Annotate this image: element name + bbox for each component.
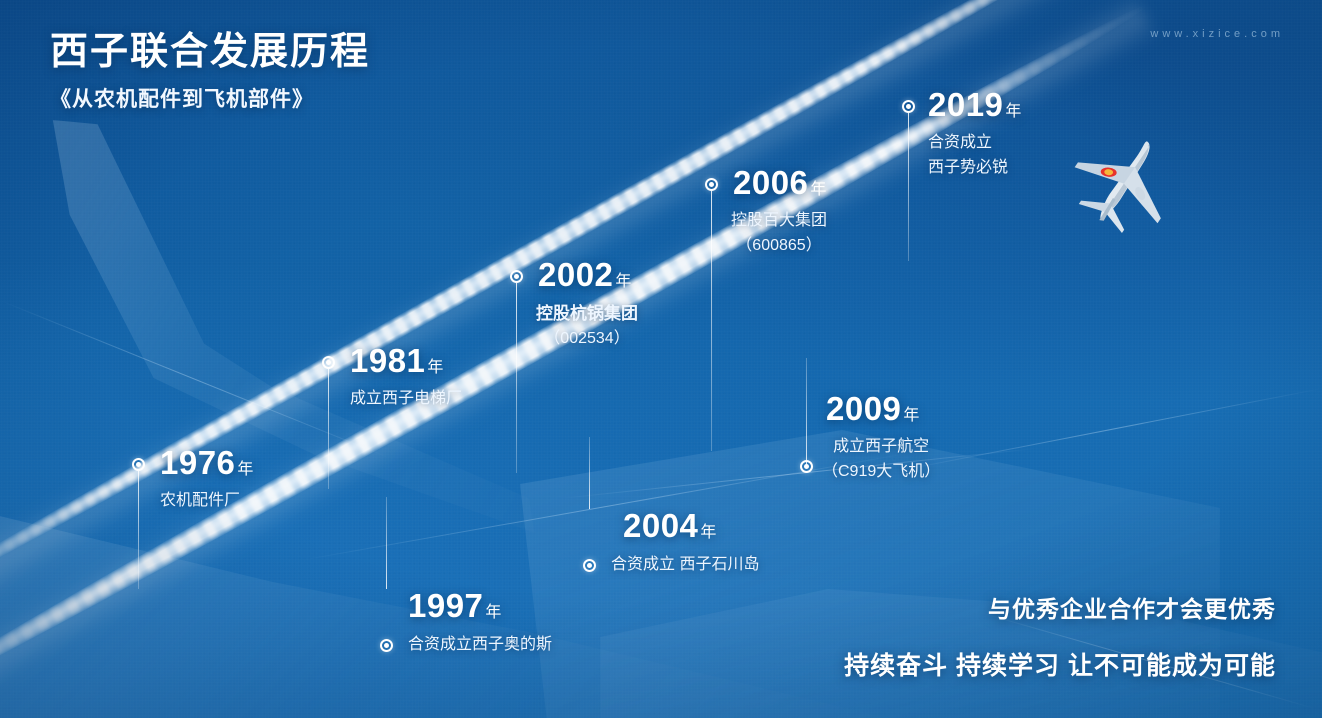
ring-dot-icon	[380, 639, 393, 652]
node-year-value: 1976	[160, 444, 235, 481]
node-stem	[328, 369, 329, 489]
ring-dot-icon	[800, 460, 813, 473]
node-code: （002534）	[536, 327, 638, 352]
header: 西子联合发展历程 《从农机配件到飞机部件》	[50, 32, 370, 113]
timeline-node-1997[interactable]: 1997年 合资成立西子奥的斯	[380, 589, 552, 658]
timeline-infographic: 西子联合发展历程 《从农机配件到飞机部件》 www.xizice.com 197…	[0, 0, 1322, 718]
node-stem	[138, 471, 139, 589]
node-year-suffix: 年	[615, 273, 632, 290]
node-stem	[386, 497, 387, 589]
node-desc: 成立西子航空	[822, 435, 940, 460]
node-year: 2002年	[538, 258, 638, 291]
node-year-suffix: 年	[1005, 103, 1022, 120]
node-year-value: 1997	[408, 587, 483, 624]
ring-dot-icon	[510, 270, 523, 283]
node-desc: 农机配件厂	[160, 489, 254, 514]
node-year: 2006年	[733, 166, 827, 199]
timeline-node-1981[interactable]: 1981年 成立西子电梯厂	[322, 344, 462, 412]
node-year: 2009年	[826, 392, 940, 425]
timeline-node-2009[interactable]: 2009年 成立西子航空 （C919大飞机）	[800, 392, 940, 485]
node-year-suffix: 年	[700, 524, 717, 541]
timeline-node-2002[interactable]: 2002年 控股杭锅集团 （002534）	[510, 258, 638, 352]
node-year-value: 2009	[826, 390, 901, 427]
node-year: 1976年	[160, 446, 254, 479]
slogan-block: 与优秀企业合作才会更优秀 持续奋斗 持续学习 让不可能成为可能	[844, 590, 1276, 682]
slogan-line-2: 持续奋斗 持续学习 让不可能成为可能	[844, 646, 1276, 682]
node-code: （600865）	[731, 234, 827, 259]
timeline-node-2019[interactable]: 2019年 合资成立 西子势必锐	[902, 88, 1022, 181]
node-year-value: 2002	[538, 256, 613, 293]
node-desc: 合资成立 西子石川岛	[611, 553, 759, 578]
node-stem	[711, 191, 712, 451]
timeline-node-2006[interactable]: 2006年 控股百大集团 （600865）	[705, 166, 827, 259]
node-stem	[516, 283, 517, 473]
node-year-value: 1981	[350, 342, 425, 379]
page-title: 西子联合发展历程	[50, 32, 370, 74]
node-stem	[589, 437, 590, 509]
node-year: 1997年	[408, 589, 552, 622]
timeline-node-2004[interactable]: 2004年 合资成立 西子石川岛	[583, 509, 759, 578]
page-subtitle: 《从农机配件到飞机部件》	[50, 83, 370, 113]
node-desc: 合资成立	[928, 131, 1022, 156]
ring-dot-icon	[322, 356, 335, 369]
node-stem	[908, 113, 909, 261]
ring-dot-icon	[132, 458, 145, 471]
node-year: 1981年	[350, 344, 462, 377]
node-desc: 成立西子电梯厂	[350, 387, 462, 412]
node-year-suffix: 年	[237, 461, 254, 478]
node-year: 2019年	[928, 88, 1022, 121]
node-desc: 合资成立西子奥的斯	[408, 633, 552, 658]
node-year-suffix: 年	[485, 604, 502, 621]
node-year-suffix: 年	[810, 181, 827, 198]
node-year-value: 2006	[733, 164, 808, 201]
node-detail: 西子势必锐	[928, 156, 1022, 181]
ring-dot-icon	[583, 559, 596, 572]
node-year-suffix: 年	[903, 407, 920, 424]
node-desc: 控股杭锅集团	[536, 301, 638, 327]
watermark: www.xizice.com	[1150, 28, 1284, 40]
node-year-value: 2004	[623, 507, 698, 544]
node-year: 2004年	[623, 509, 759, 542]
node-year-suffix: 年	[427, 359, 444, 376]
ring-dot-icon	[902, 100, 915, 113]
node-stem	[806, 358, 807, 466]
ring-dot-icon	[705, 178, 718, 191]
timeline-node-1976[interactable]: 1976年 农机配件厂	[132, 446, 254, 514]
node-detail: （C919大飞机）	[822, 460, 940, 485]
slogan-line-1: 与优秀企业合作才会更优秀	[844, 590, 1276, 624]
node-desc: 控股百大集团	[731, 209, 827, 234]
node-year-value: 2019	[928, 86, 1003, 123]
